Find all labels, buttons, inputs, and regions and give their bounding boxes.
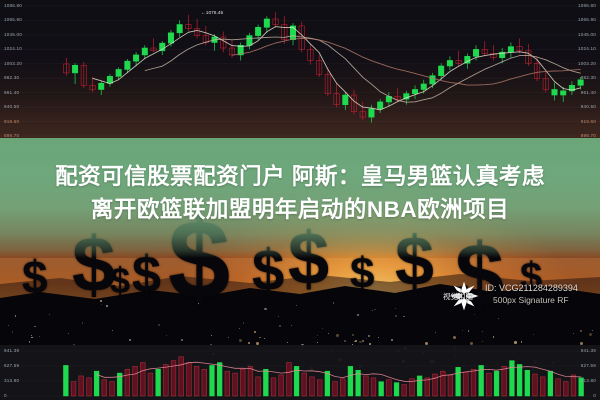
bokeh-speck bbox=[374, 309, 375, 310]
bokeh-speck bbox=[468, 330, 470, 332]
volume-axis-tick-right: 627.59 bbox=[581, 363, 596, 368]
bokeh-speck bbox=[333, 302, 334, 303]
volume-axis-tick-right: 0 bbox=[593, 393, 596, 398]
bokeh-speck bbox=[521, 341, 522, 342]
bokeh-speck bbox=[239, 328, 240, 329]
price-axis-right: 1086.801065.901045.001024.101003.20982.3… bbox=[0, 0, 600, 150]
bokeh-speck bbox=[514, 341, 517, 344]
price-axis-tick-right: 1024.10 bbox=[578, 46, 596, 51]
bokeh-speck bbox=[355, 340, 357, 342]
bokeh-speck bbox=[211, 335, 212, 336]
bokeh-speck bbox=[328, 333, 329, 334]
watermark-license: 500px Signature RF bbox=[493, 295, 569, 305]
volume-axis-right: 941.39627.59313.800 bbox=[0, 345, 600, 400]
bokeh-speck bbox=[239, 339, 242, 342]
price-axis-tick-right: 982.30 bbox=[581, 75, 596, 80]
dollar-sign-silhouette: $ bbox=[350, 255, 374, 292]
bokeh-speck bbox=[101, 304, 102, 305]
screenshot-stage: $ $ $ $ $ $ $ $ $ $ $ 1086.801065.901045… bbox=[0, 0, 600, 400]
bokeh-speck bbox=[435, 332, 436, 333]
bokeh-speck bbox=[580, 330, 582, 332]
bokeh-speck bbox=[68, 333, 69, 334]
bokeh-speck bbox=[336, 334, 339, 337]
headline-line-1: 配资可信股票配资门户 阿斯：皇马男篮认真考虑 bbox=[0, 160, 600, 193]
watermark-brand-cn: 视觉中国 bbox=[443, 291, 473, 302]
bokeh-speck bbox=[482, 341, 483, 342]
headline-line-2: 离开欧篮联加盟明年启动的NBA欧洲项目 bbox=[0, 193, 600, 226]
bokeh-speck bbox=[359, 341, 362, 344]
bokeh-speck bbox=[372, 310, 373, 311]
dollar-sign-silhouette: $ bbox=[22, 258, 48, 297]
bokeh-speck bbox=[82, 322, 84, 324]
price-chart-panel: 1086.801065.901045.001024.101003.20982.3… bbox=[0, 0, 600, 150]
headline-text: 配资可信股票配资门户 阿斯：皇马男篮认真考虑 离开欧篮联加盟明年启动的NBA欧洲… bbox=[0, 160, 600, 226]
watermark: 视觉中国 ID: VCG211284289394 500px Signature… bbox=[447, 278, 597, 314]
volume-axis-tick-right: 941.39 bbox=[581, 348, 596, 353]
bokeh-speck bbox=[181, 339, 183, 341]
price-axis-tick-right: 961.40 bbox=[581, 90, 596, 95]
bokeh-speck bbox=[264, 308, 266, 310]
price-axis-tick-right: 1065.90 bbox=[578, 17, 596, 22]
bokeh-speck bbox=[198, 303, 199, 304]
bokeh-speck bbox=[34, 326, 36, 328]
price-axis-tick-right: 919.60 bbox=[581, 119, 596, 124]
bokeh-speck bbox=[317, 342, 318, 343]
dollar-sign-silhouette: $ bbox=[132, 253, 161, 297]
volume-axis-tick-right: 313.80 bbox=[581, 378, 596, 383]
bokeh-speck bbox=[112, 330, 113, 331]
bokeh-speck bbox=[243, 322, 244, 323]
bokeh-speck bbox=[344, 340, 346, 342]
bokeh-speck bbox=[8, 325, 9, 326]
price-axis-tick-right: 940.50 bbox=[581, 104, 596, 109]
price-axis-tick-right: 1003.20 bbox=[578, 61, 596, 66]
price-annotation-label: ←1076.45 bbox=[201, 11, 223, 16]
price-axis-tick-right: 1086.80 bbox=[578, 3, 596, 8]
bokeh-speck bbox=[39, 336, 40, 337]
volume-chart-panel: 941.39627.59313.800 941.39627.59313.800 bbox=[0, 345, 600, 400]
bokeh-speck bbox=[287, 342, 288, 343]
price-axis-tick-right: 1045.00 bbox=[578, 32, 596, 37]
watermark-image-id: ID: VCG211284289394 bbox=[485, 283, 578, 293]
